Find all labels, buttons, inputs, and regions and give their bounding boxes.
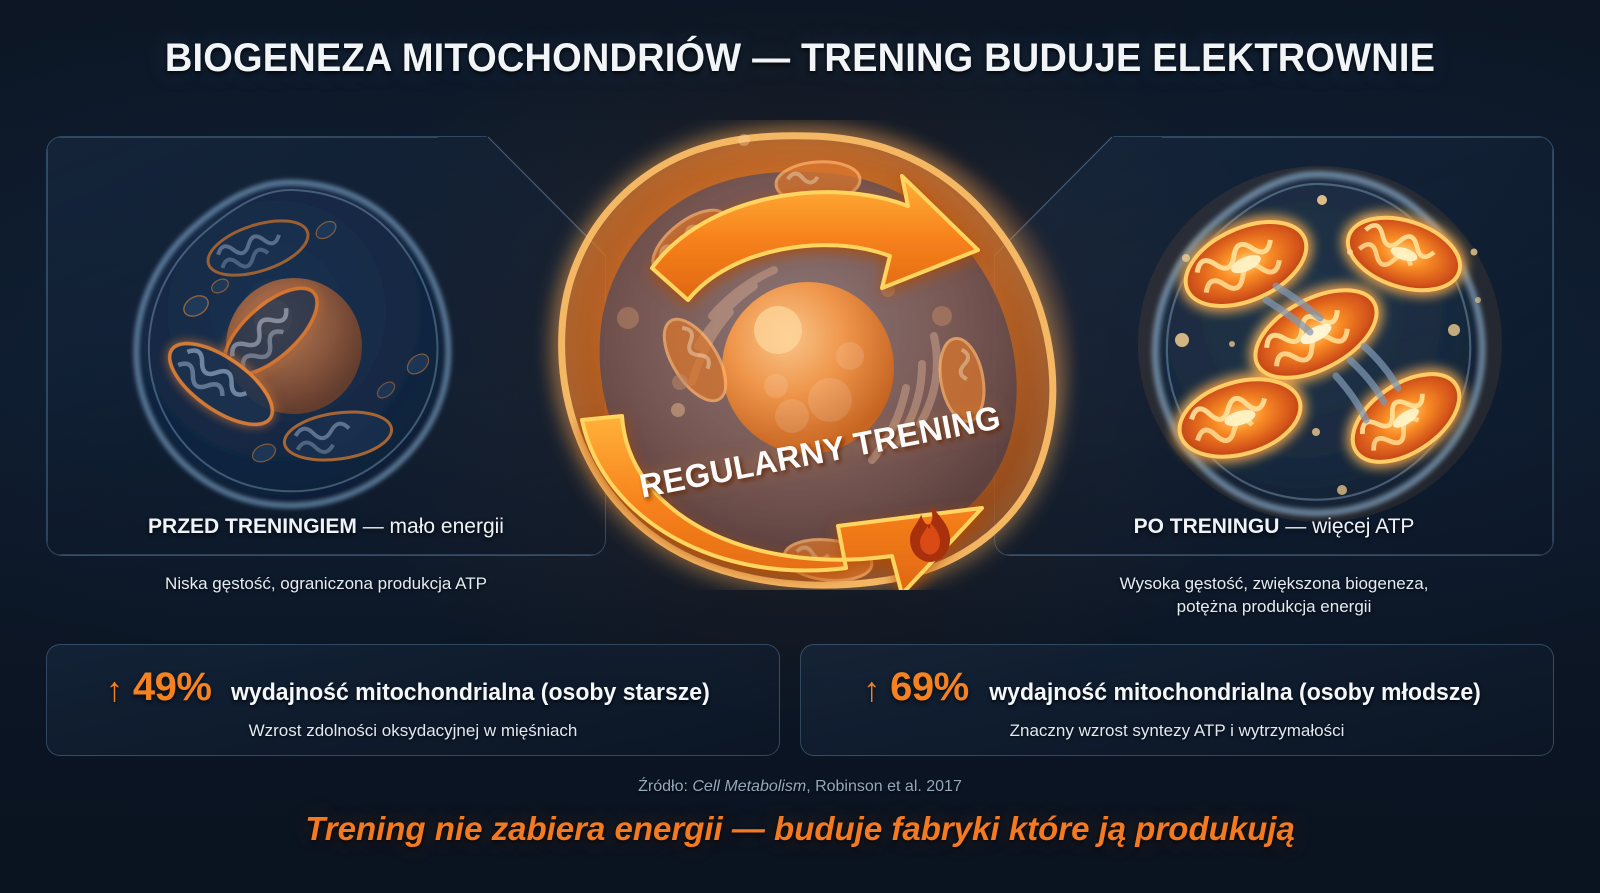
stat-card-older: ↑ 49% wydajność mitochondrialna (osoby s… — [46, 644, 780, 756]
up-arrow-icon: ↑ — [863, 673, 880, 707]
panel-title-after-bold: PO TRENINGU — [1134, 515, 1280, 538]
stat-row-younger: ↑ 69% wydajność mitochondrialna (osoby m… — [801, 665, 1553, 710]
panel-subtitle-before: Niska gęstość, ograniczona produkcja ATP — [46, 573, 606, 596]
panel-subtitle-after: Wysoka gęstość, zwiększona biogeneza, po… — [994, 573, 1554, 619]
panel-title-before-rest: — mało energii — [357, 515, 504, 538]
stat-note-older: Wzrost zdolności oksydacyjnej w mięśniac… — [47, 721, 779, 741]
cell-illustration-before — [118, 168, 468, 518]
stat-note-younger: Znaczny wzrost syntezy ATP i wytrzymałoś… — [801, 721, 1553, 741]
panel-title-after-rest: — więcej ATP — [1279, 515, 1414, 538]
panel-title-before: PRZED TRENINGIEM — mało energii — [46, 515, 606, 539]
source-prefix: Źródło: — [638, 778, 692, 795]
stat-label-younger: wydajność mitochondrialna (osoby młodsze… — [989, 679, 1481, 707]
panel-subtitle-after-line2: potężna produkcja energii — [994, 596, 1554, 619]
stat-percent-older: 49% — [133, 665, 212, 710]
page-title: BIOGENEZA MITOCHONDRIÓW — TRENING BUDUJE… — [40, 36, 1560, 81]
source-journal: Cell Metabolism — [692, 778, 806, 795]
up-arrow-icon: ↑ — [106, 673, 123, 707]
tagline: Trening nie zabiera energii — buduje fab… — [0, 810, 1600, 848]
source-suffix: , Robinson et al. 2017 — [806, 778, 962, 795]
infographic-root: BIOGENEZA MITOCHONDRIÓW — TRENING BUDUJE… — [0, 0, 1600, 893]
source-citation: Źródło: Cell Metabolism, Robinson et al.… — [0, 778, 1600, 796]
stat-row-older: ↑ 49% wydajność mitochondrialna (osoby s… — [47, 665, 779, 710]
stat-percent-younger: 69% — [890, 665, 969, 710]
stat-card-younger: ↑ 69% wydajność mitochondrialna (osoby m… — [800, 644, 1554, 756]
panel-title-before-bold: PRZED TRENINGIEM — [148, 515, 357, 538]
panel-subtitle-after-line1: Wysoka gęstość, zwiększona biogeneza, — [994, 573, 1554, 596]
panel-title-after: PO TRENINGU — więcej ATP — [994, 515, 1554, 539]
stat-label-older: wydajność mitochondrialna (osoby starsze… — [231, 679, 710, 707]
cell-illustration-after — [1136, 160, 1504, 528]
